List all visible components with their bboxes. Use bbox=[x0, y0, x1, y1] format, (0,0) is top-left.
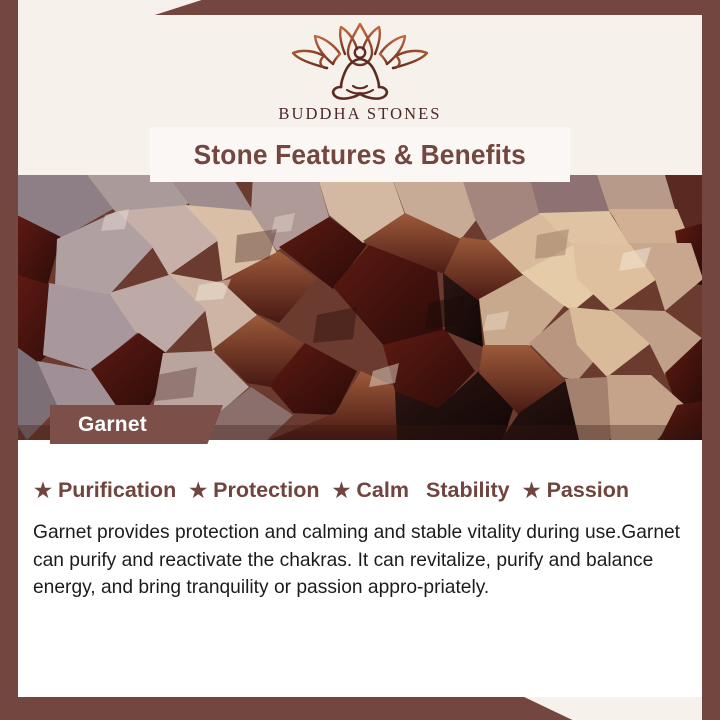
frame-band-top bbox=[0, 0, 720, 15]
benefit-item-protection: ★ Protection bbox=[189, 478, 319, 503]
benefit-label: Protection bbox=[213, 478, 319, 503]
frame-band-bottom bbox=[0, 697, 720, 720]
brand-logo-block: BUDDHA STONES bbox=[0, 22, 720, 124]
benefit-item-passion: ★ Passion bbox=[523, 478, 629, 503]
benefits-list: ★ Purification ★ Protection ★ Calm Stabi… bbox=[34, 478, 686, 503]
page-title: Stone Features & Benefits bbox=[194, 139, 526, 171]
benefit-label: Passion bbox=[547, 478, 629, 503]
benefit-item-stability: Stability bbox=[426, 478, 510, 503]
star-icon: ★ bbox=[34, 481, 52, 501]
title-plaque: Stone Features & Benefits bbox=[150, 127, 570, 182]
stone-description: Garnet provides protection and calming a… bbox=[33, 519, 681, 602]
star-icon: ★ bbox=[523, 481, 541, 501]
garnet-crystal-cluster-photo bbox=[17, 175, 703, 440]
benefit-label: Purification bbox=[58, 478, 176, 503]
benefit-item-calm: ★ Calm bbox=[332, 478, 409, 503]
brand-name: BUDDHA STONES bbox=[278, 104, 441, 124]
star-icon: ★ bbox=[189, 481, 207, 501]
benefit-item-purification: ★ Purification bbox=[34, 478, 176, 503]
stone-name-tag: Garnet bbox=[50, 405, 223, 444]
stone-name: Garnet bbox=[78, 413, 147, 437]
poster-root: BUDDHA STONES Stone Features & Benefits bbox=[0, 0, 720, 720]
lotus-meditation-icon bbox=[287, 22, 433, 100]
benefit-label: Stability bbox=[426, 478, 510, 503]
star-icon: ★ bbox=[332, 481, 350, 501]
benefit-label: Calm bbox=[356, 478, 409, 503]
